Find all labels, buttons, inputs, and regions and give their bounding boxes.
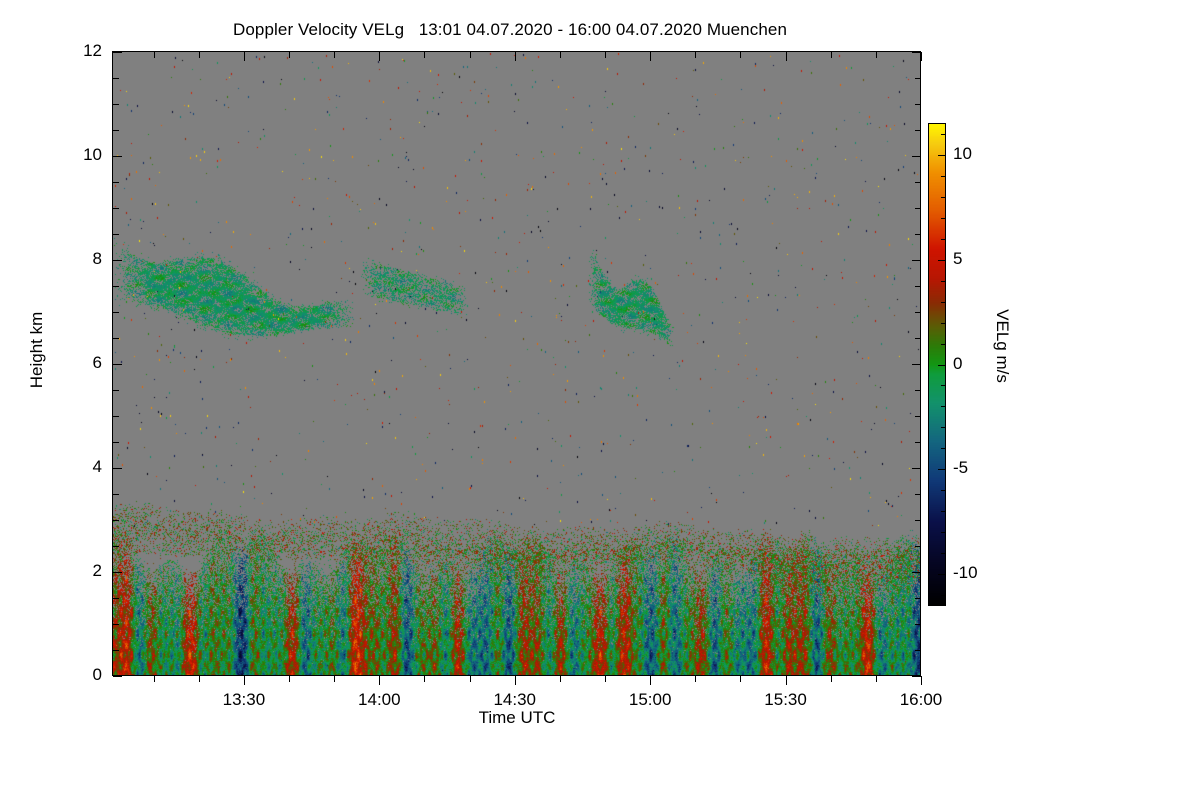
y-tick-right: [912, 156, 921, 157]
y-axis-title: Height km: [27, 290, 47, 410]
colorbar-tick-label: -5: [953, 458, 968, 478]
y-tick-minor: [113, 546, 119, 547]
colorbar-title: VELg m/s: [992, 286, 1012, 406]
figure-root: Doppler Velocity VELg 13:01 04.07.2020 -…: [0, 0, 1200, 800]
y-tick-right: [912, 260, 921, 261]
x-tick-top: [560, 52, 561, 58]
y-tick-minor: [113, 520, 119, 521]
x-tick-minor: [199, 676, 200, 682]
y-tick-right: [915, 182, 921, 183]
x-tick-minor: [334, 676, 335, 682]
y-tick-minor: [113, 468, 122, 469]
colorbar-tick: [938, 155, 945, 156]
x-tick-label: 14:00: [339, 690, 419, 710]
y-tick-minor: [113, 572, 122, 573]
colorbar-tick: [941, 595, 945, 596]
colorbar-tick-label: 0: [953, 354, 962, 374]
y-tick-right: [915, 130, 921, 131]
x-tick-minor: [515, 676, 516, 685]
colorbar-tick: [941, 239, 945, 240]
x-tick-label: 15:30: [746, 690, 826, 710]
x-tick-minor: [876, 676, 877, 682]
x-tick-minor: [695, 676, 696, 682]
colorbar-tick: [941, 323, 945, 324]
y-tick-right: [915, 598, 921, 599]
x-tick-top: [876, 52, 877, 58]
y-tick-minor: [113, 104, 119, 105]
y-tick-label: 12: [30, 41, 102, 61]
y-tick-minor: [113, 182, 119, 183]
colorbar-tick: [941, 427, 945, 428]
colorbar-tick: [938, 365, 945, 366]
x-tick-minor: [560, 676, 561, 682]
x-tick-minor: [289, 676, 290, 682]
x-tick-minor: [379, 676, 380, 685]
x-tick-minor: [831, 676, 832, 682]
x-tick-minor: [470, 676, 471, 682]
y-tick-minor: [113, 130, 119, 131]
x-tick-minor: [740, 676, 741, 682]
y-tick-right: [915, 520, 921, 521]
colorbar-tick: [941, 490, 945, 491]
x-tick-top: [289, 52, 290, 58]
y-tick-right: [915, 650, 921, 651]
x-tick-label: 15:00: [610, 690, 690, 710]
colorbar-tick: [938, 574, 945, 575]
y-tick-minor: [113, 338, 119, 339]
colorbar-tick: [941, 134, 945, 135]
y-tick-minor: [113, 494, 119, 495]
x-tick-top: [334, 52, 335, 58]
x-tick-label: 13:30: [204, 690, 284, 710]
y-tick-right: [915, 234, 921, 235]
x-tick-minor: [244, 676, 245, 685]
y-tick-label: 4: [30, 457, 102, 477]
y-tick-right: [915, 286, 921, 287]
x-tick-top: [515, 52, 516, 61]
y-tick-right: [915, 546, 921, 547]
x-tick-top: [379, 52, 380, 61]
y-tick-minor: [113, 364, 122, 365]
y-tick-minor: [113, 260, 122, 261]
y-tick-right: [915, 338, 921, 339]
y-tick-minor: [113, 156, 122, 157]
colorbar-tick: [941, 511, 945, 512]
x-tick-top: [695, 52, 696, 58]
y-tick-right: [912, 572, 921, 573]
colorbar-tick-label: 10: [953, 144, 972, 164]
colorbar-tick-label: -10: [953, 563, 978, 583]
colorbar-tick: [938, 260, 945, 261]
y-tick-right: [915, 312, 921, 313]
colorbar-tick: [941, 553, 945, 554]
x-tick-minor: [154, 676, 155, 682]
y-tick-right: [915, 442, 921, 443]
x-tick-top: [199, 52, 200, 58]
y-tick-right: [912, 52, 921, 53]
y-tick-minor: [113, 598, 119, 599]
y-tick-label: 2: [30, 561, 102, 581]
y-tick-minor: [113, 624, 119, 625]
colorbar-tick: [941, 532, 945, 533]
colorbar-tick: [941, 448, 945, 449]
colorbar-tick: [941, 197, 945, 198]
colorbar-tick: [938, 469, 945, 470]
colorbar-tick-label: 5: [953, 249, 962, 269]
y-tick-right: [912, 364, 921, 365]
y-tick-right: [915, 104, 921, 105]
x-tick-minor: [605, 676, 606, 682]
x-tick-top: [831, 52, 832, 58]
y-tick-right: [915, 390, 921, 391]
y-tick-label: 8: [30, 249, 102, 269]
y-tick-right: [915, 78, 921, 79]
x-tick-top: [786, 52, 787, 61]
y-tick-minor: [113, 650, 119, 651]
y-tick-minor: [113, 312, 119, 313]
x-tick-minor: [921, 676, 922, 685]
x-tick-top: [424, 52, 425, 58]
y-tick-minor: [113, 234, 119, 235]
y-tick-right: [915, 494, 921, 495]
x-tick-top: [605, 52, 606, 58]
x-tick-label: 14:30: [475, 690, 555, 710]
colorbar-tick: [941, 281, 945, 282]
x-tick-top: [244, 52, 245, 61]
x-tick-top: [470, 52, 471, 58]
y-tick-minor: [113, 416, 119, 417]
x-tick-minor: [786, 676, 787, 685]
y-tick-right: [915, 416, 921, 417]
y-tick-minor: [113, 286, 119, 287]
page-title: Doppler Velocity VELg 13:01 04.07.2020 -…: [0, 20, 1020, 40]
colorbar-tick: [941, 302, 945, 303]
y-tick-minor: [113, 442, 119, 443]
x-tick-minor: [424, 676, 425, 682]
x-tick-top: [154, 52, 155, 58]
y-tick-minor: [113, 52, 122, 53]
x-tick-minor: [650, 676, 651, 685]
y-tick-minor: [113, 390, 119, 391]
y-tick-minor: [113, 208, 119, 209]
x-tick-label: 16:00: [881, 690, 961, 710]
y-tick-label: 10: [30, 145, 102, 165]
x-tick-top: [650, 52, 651, 61]
x-tick-top: [921, 52, 922, 61]
y-tick-minor: [113, 78, 119, 79]
colorbar-tick: [941, 344, 945, 345]
colorbar-tick: [941, 406, 945, 407]
y-tick-right: [915, 624, 921, 625]
y-tick-right: [915, 208, 921, 209]
colorbar-tick: [941, 218, 945, 219]
colorbar-tick: [941, 385, 945, 386]
doppler-velocity-heatmap: [113, 52, 921, 676]
y-tick-right: [912, 468, 921, 469]
x-tick-top: [740, 52, 741, 58]
y-tick-right: [912, 676, 921, 677]
x-axis-title: Time UTC: [113, 708, 921, 728]
y-tick-label: 0: [30, 665, 102, 685]
y-tick-minor: [113, 676, 122, 677]
colorbar-tick: [941, 176, 945, 177]
